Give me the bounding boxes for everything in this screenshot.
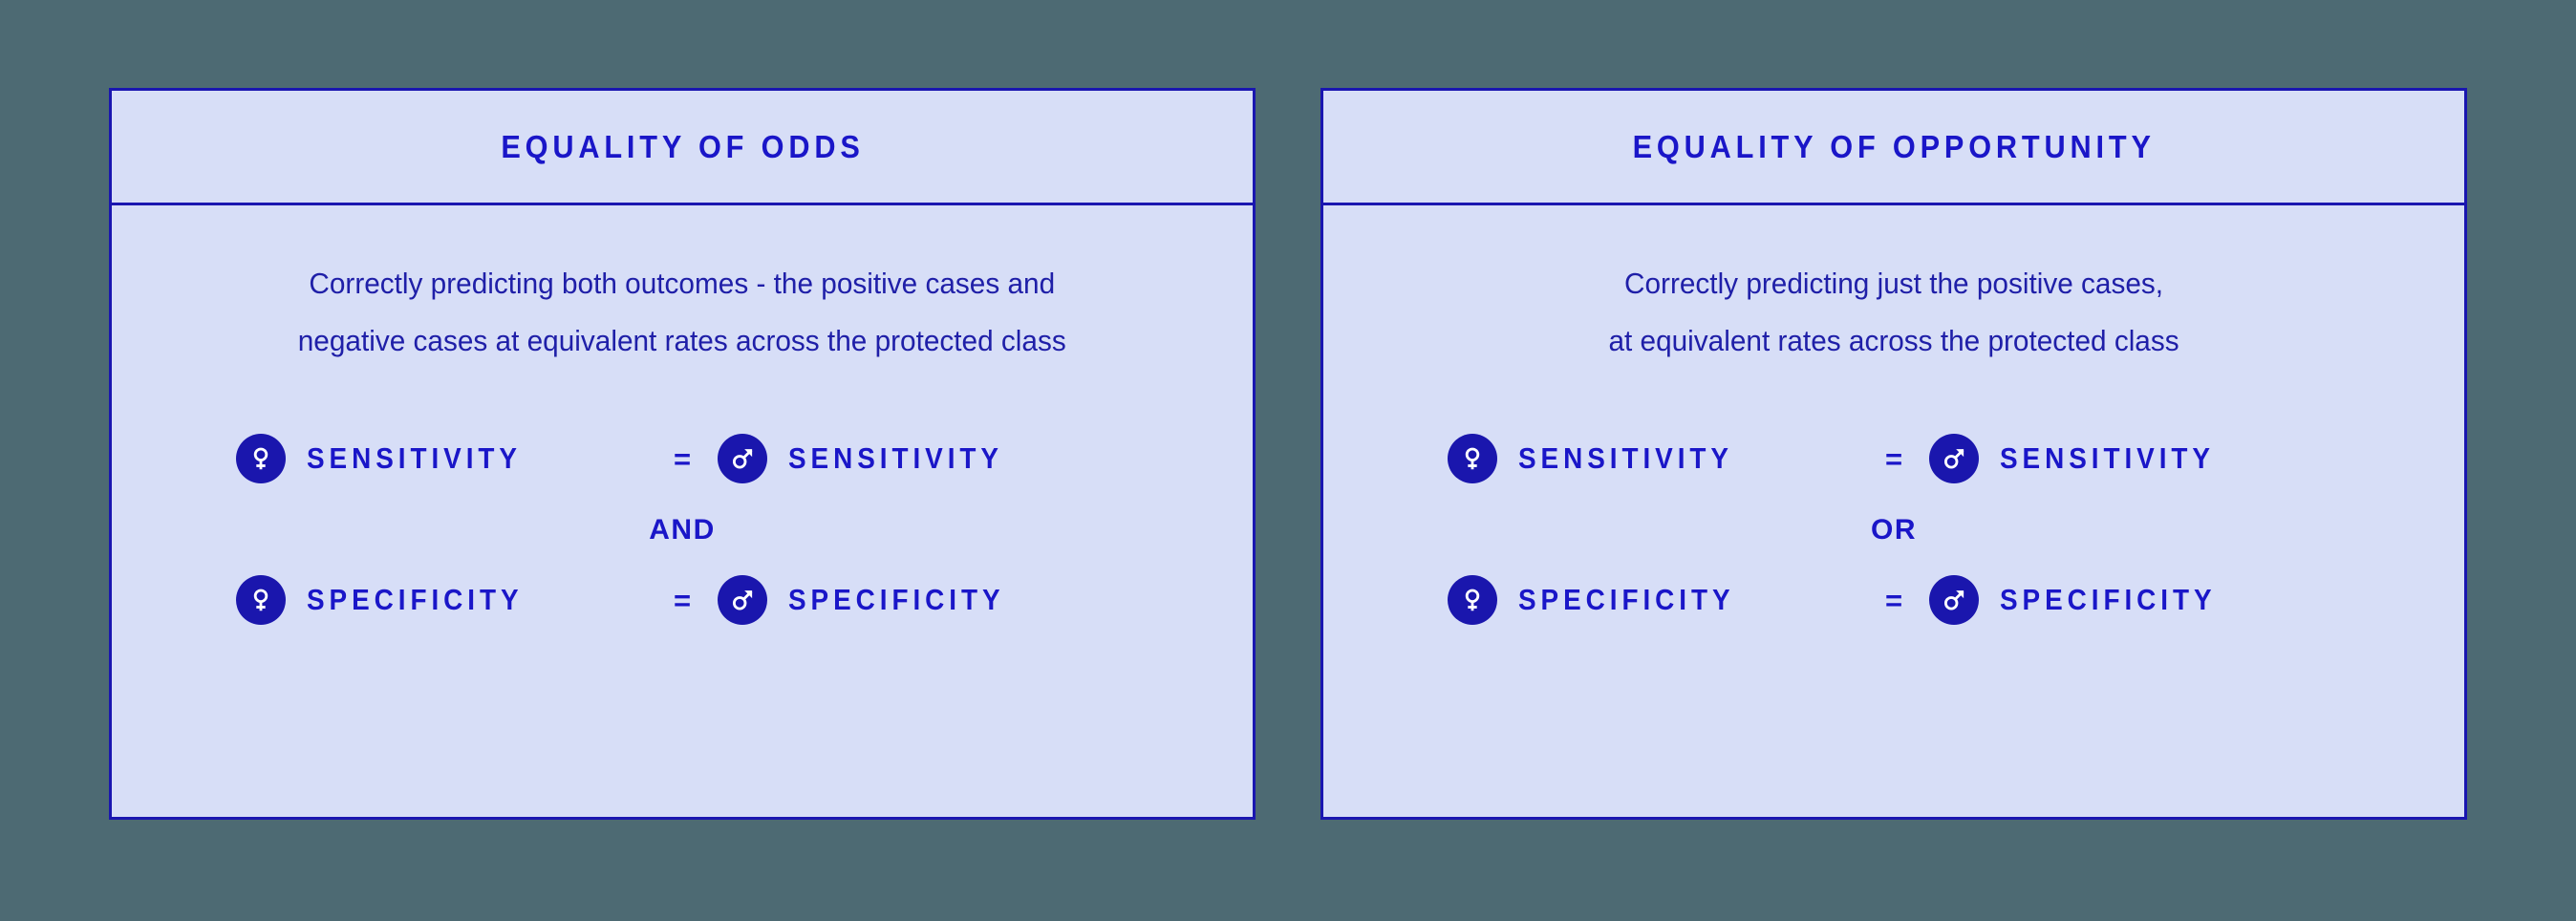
equation-row-specificity: SPECIFICITY = SPECIFICITY — [1323, 570, 2464, 630]
equation-row-sensitivity: SENSITIVITY = SENSITIVITY — [112, 429, 1253, 488]
equation-left-term: SPECIFICITY — [1448, 575, 1858, 625]
metric-label: SENSITIVITY — [2000, 441, 2215, 476]
card-body: Correctly predicting both outcomes - the… — [112, 205, 1253, 817]
equation-right-term: SPECIFICITY — [718, 575, 1128, 625]
card-equality-of-odds: EQUALITY OF ODDS Correctly predicting bo… — [109, 88, 1256, 820]
metric-label: SPECIFICITY — [307, 583, 524, 617]
equation-left-term: SPECIFICITY — [236, 575, 647, 625]
equations-group: SENSITIVITY = SENSITIVITY — [112, 429, 1253, 630]
female-icon — [1448, 575, 1497, 625]
equation-right-term: SENSITIVITY — [718, 434, 1128, 483]
equation-row-sensitivity: SENSITIVITY = SENSITIVITY — [1323, 429, 2464, 488]
male-icon — [718, 434, 767, 483]
comparison-cards-row: EQUALITY OF ODDS Correctly predicting bo… — [0, 0, 2576, 921]
card-body: Correctly predicting just the positive c… — [1323, 205, 2464, 817]
diagram-canvas: EQUALITY OF ODDS Correctly predicting bo… — [0, 0, 2576, 921]
equation-right-term: SPECIFICITY — [1929, 575, 2340, 625]
female-icon — [1448, 434, 1497, 483]
card-header: EQUALITY OF OPPORTUNITY — [1323, 91, 2464, 205]
description-line: Correctly predicting just the positive c… — [1608, 255, 2179, 312]
card-header: EQUALITY OF ODDS — [112, 91, 1253, 205]
male-icon — [718, 575, 767, 625]
metric-label: SENSITIVITY — [307, 441, 522, 476]
equals-operator: = — [674, 444, 691, 474]
metric-label: SPECIFICITY — [788, 583, 1005, 617]
male-icon — [1929, 575, 1979, 625]
equation-left-term: SENSITIVITY — [236, 434, 647, 483]
equation-left-term: SENSITIVITY — [1448, 434, 1858, 483]
metric-label: SPECIFICITY — [2000, 583, 2217, 617]
card-description: Correctly predicting both outcomes - the… — [298, 255, 1066, 370]
female-icon — [236, 575, 286, 625]
equals-operator: = — [1885, 586, 1902, 615]
card-equality-of-opportunity: EQUALITY OF OPPORTUNITY Correctly predic… — [1320, 88, 2467, 820]
female-icon — [236, 434, 286, 483]
metric-label: SENSITIVITY — [788, 441, 1003, 476]
equals-operator: = — [1885, 444, 1902, 474]
card-title: EQUALITY OF OPPORTUNITY — [1632, 129, 2155, 165]
metric-label: SPECIFICITY — [1518, 583, 1735, 617]
description-line: negative cases at equivalent rates acros… — [298, 312, 1066, 370]
equations-group: SENSITIVITY = SENSITIVITY — [1323, 429, 2464, 630]
card-description: Correctly predicting just the positive c… — [1608, 255, 2179, 370]
card-title: EQUALITY OF ODDS — [501, 129, 864, 165]
logical-connector: OR — [1323, 511, 2464, 549]
equation-row-specificity: SPECIFICITY = SPECIFICITY — [112, 570, 1253, 630]
logical-connector: AND — [112, 511, 1253, 549]
male-icon — [1929, 434, 1979, 483]
metric-label: SENSITIVITY — [1518, 441, 1733, 476]
description-line: at equivalent rates across the protected… — [1608, 312, 2179, 370]
equals-operator: = — [674, 586, 691, 615]
description-line: Correctly predicting both outcomes - the… — [298, 255, 1066, 312]
equation-right-term: SENSITIVITY — [1929, 434, 2340, 483]
